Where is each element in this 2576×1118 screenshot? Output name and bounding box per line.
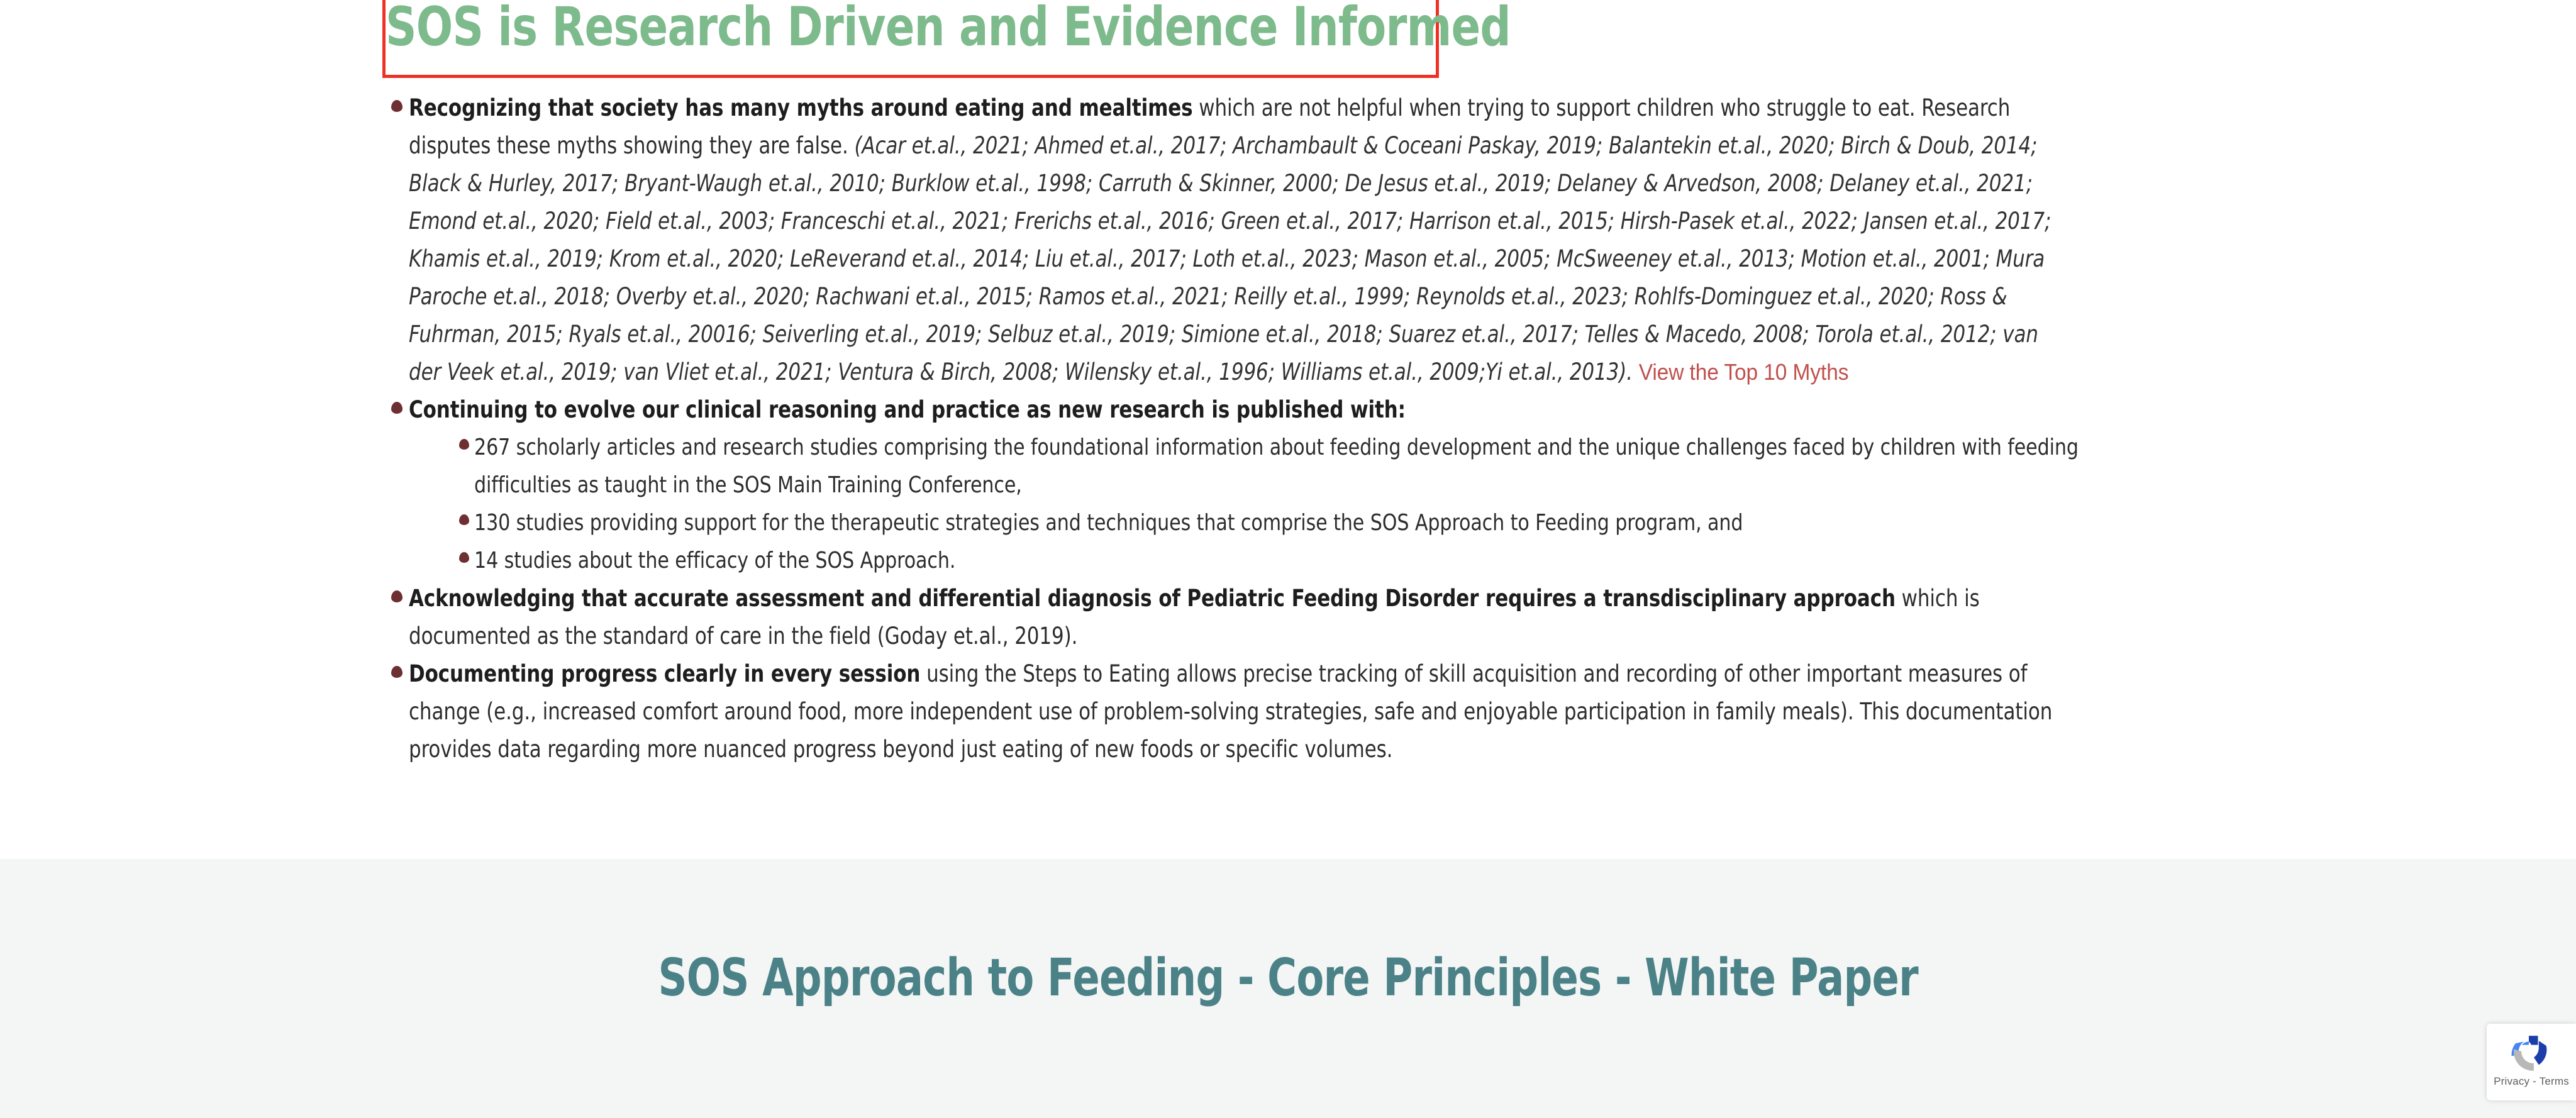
bullet-citations: (Acar et.al., 2021; Ahmed et.al., 2017; … xyxy=(409,132,2051,385)
list-item: 130 studies providing support for the th… xyxy=(454,504,2200,542)
recaptcha-icon xyxy=(2508,1032,2550,1074)
page-title-box: SOS is Research Driven and Evidence Info… xyxy=(382,0,1439,78)
list-item: Acknowledging that accurate assessment a… xyxy=(382,580,2200,655)
bullet-point-icon xyxy=(391,590,402,602)
recaptcha-badge[interactable]: Privacy - Terms xyxy=(2487,1024,2576,1100)
principles-list: Recognizing that society has many myths … xyxy=(382,89,2200,768)
bullet-point-icon xyxy=(391,666,402,678)
sub-bullet-text: 267 scholarly articles and research stud… xyxy=(474,429,2079,504)
list-item: Recognizing that society has many myths … xyxy=(382,89,2200,391)
main-content-section: SOS is Research Driven and Evidence Info… xyxy=(0,0,2576,859)
bullet-text: Recognizing that society has many myths … xyxy=(409,89,2075,391)
bullet-lead-text: Acknowledging that accurate assessment a… xyxy=(409,585,1896,612)
recaptcha-privacy-terms-label[interactable]: Privacy - Terms xyxy=(2487,1075,2576,1088)
bullet-point-icon xyxy=(391,100,402,112)
bullet-lead-text: Recognizing that society has many myths … xyxy=(409,94,1193,121)
bullet-text: Documenting progress clearly in every se… xyxy=(409,655,2075,768)
list-item: 267 scholarly articles and research stud… xyxy=(454,429,2200,504)
bullet-lead-text: Continuing to evolve our clinical reason… xyxy=(409,396,1406,423)
list-item: Documenting progress clearly in every se… xyxy=(382,655,2200,768)
bullet-text: Acknowledging that accurate assessment a… xyxy=(409,580,2075,655)
sub-bullet-text: 130 studies providing support for the th… xyxy=(474,504,2079,542)
bullet-point-icon xyxy=(459,514,469,525)
bullet-point-icon xyxy=(459,439,469,450)
list-item: 14 studies about the efficacy of the SOS… xyxy=(454,542,2200,580)
list-item: Continuing to evolve our clinical reason… xyxy=(382,391,2200,580)
bullet-lead-text: Documenting progress clearly in every se… xyxy=(409,660,920,687)
white-paper-heading-text: SOS Approach to Feeding - Core Principle… xyxy=(658,948,1918,1008)
research-sublist: 267 scholarly articles and research stud… xyxy=(409,429,2200,580)
bullet-text: Continuing to evolve our clinical reason… xyxy=(409,391,2075,429)
bullet-point-icon xyxy=(459,552,469,563)
white-paper-heading: SOS Approach to Feeding - Core Principle… xyxy=(0,948,2576,1008)
page-title: SOS is Research Driven and Evidence Info… xyxy=(386,0,1511,58)
view-top-10-myths-link[interactable]: View the Top 10 Myths xyxy=(1639,359,1849,385)
sub-bullet-text: 14 studies about the efficacy of the SOS… xyxy=(474,542,2079,580)
white-paper-section: SOS Approach to Feeding - Core Principle… xyxy=(0,859,2576,1118)
bullet-point-icon xyxy=(391,402,402,414)
content-container: SOS is Research Driven and Evidence Info… xyxy=(382,0,2200,757)
